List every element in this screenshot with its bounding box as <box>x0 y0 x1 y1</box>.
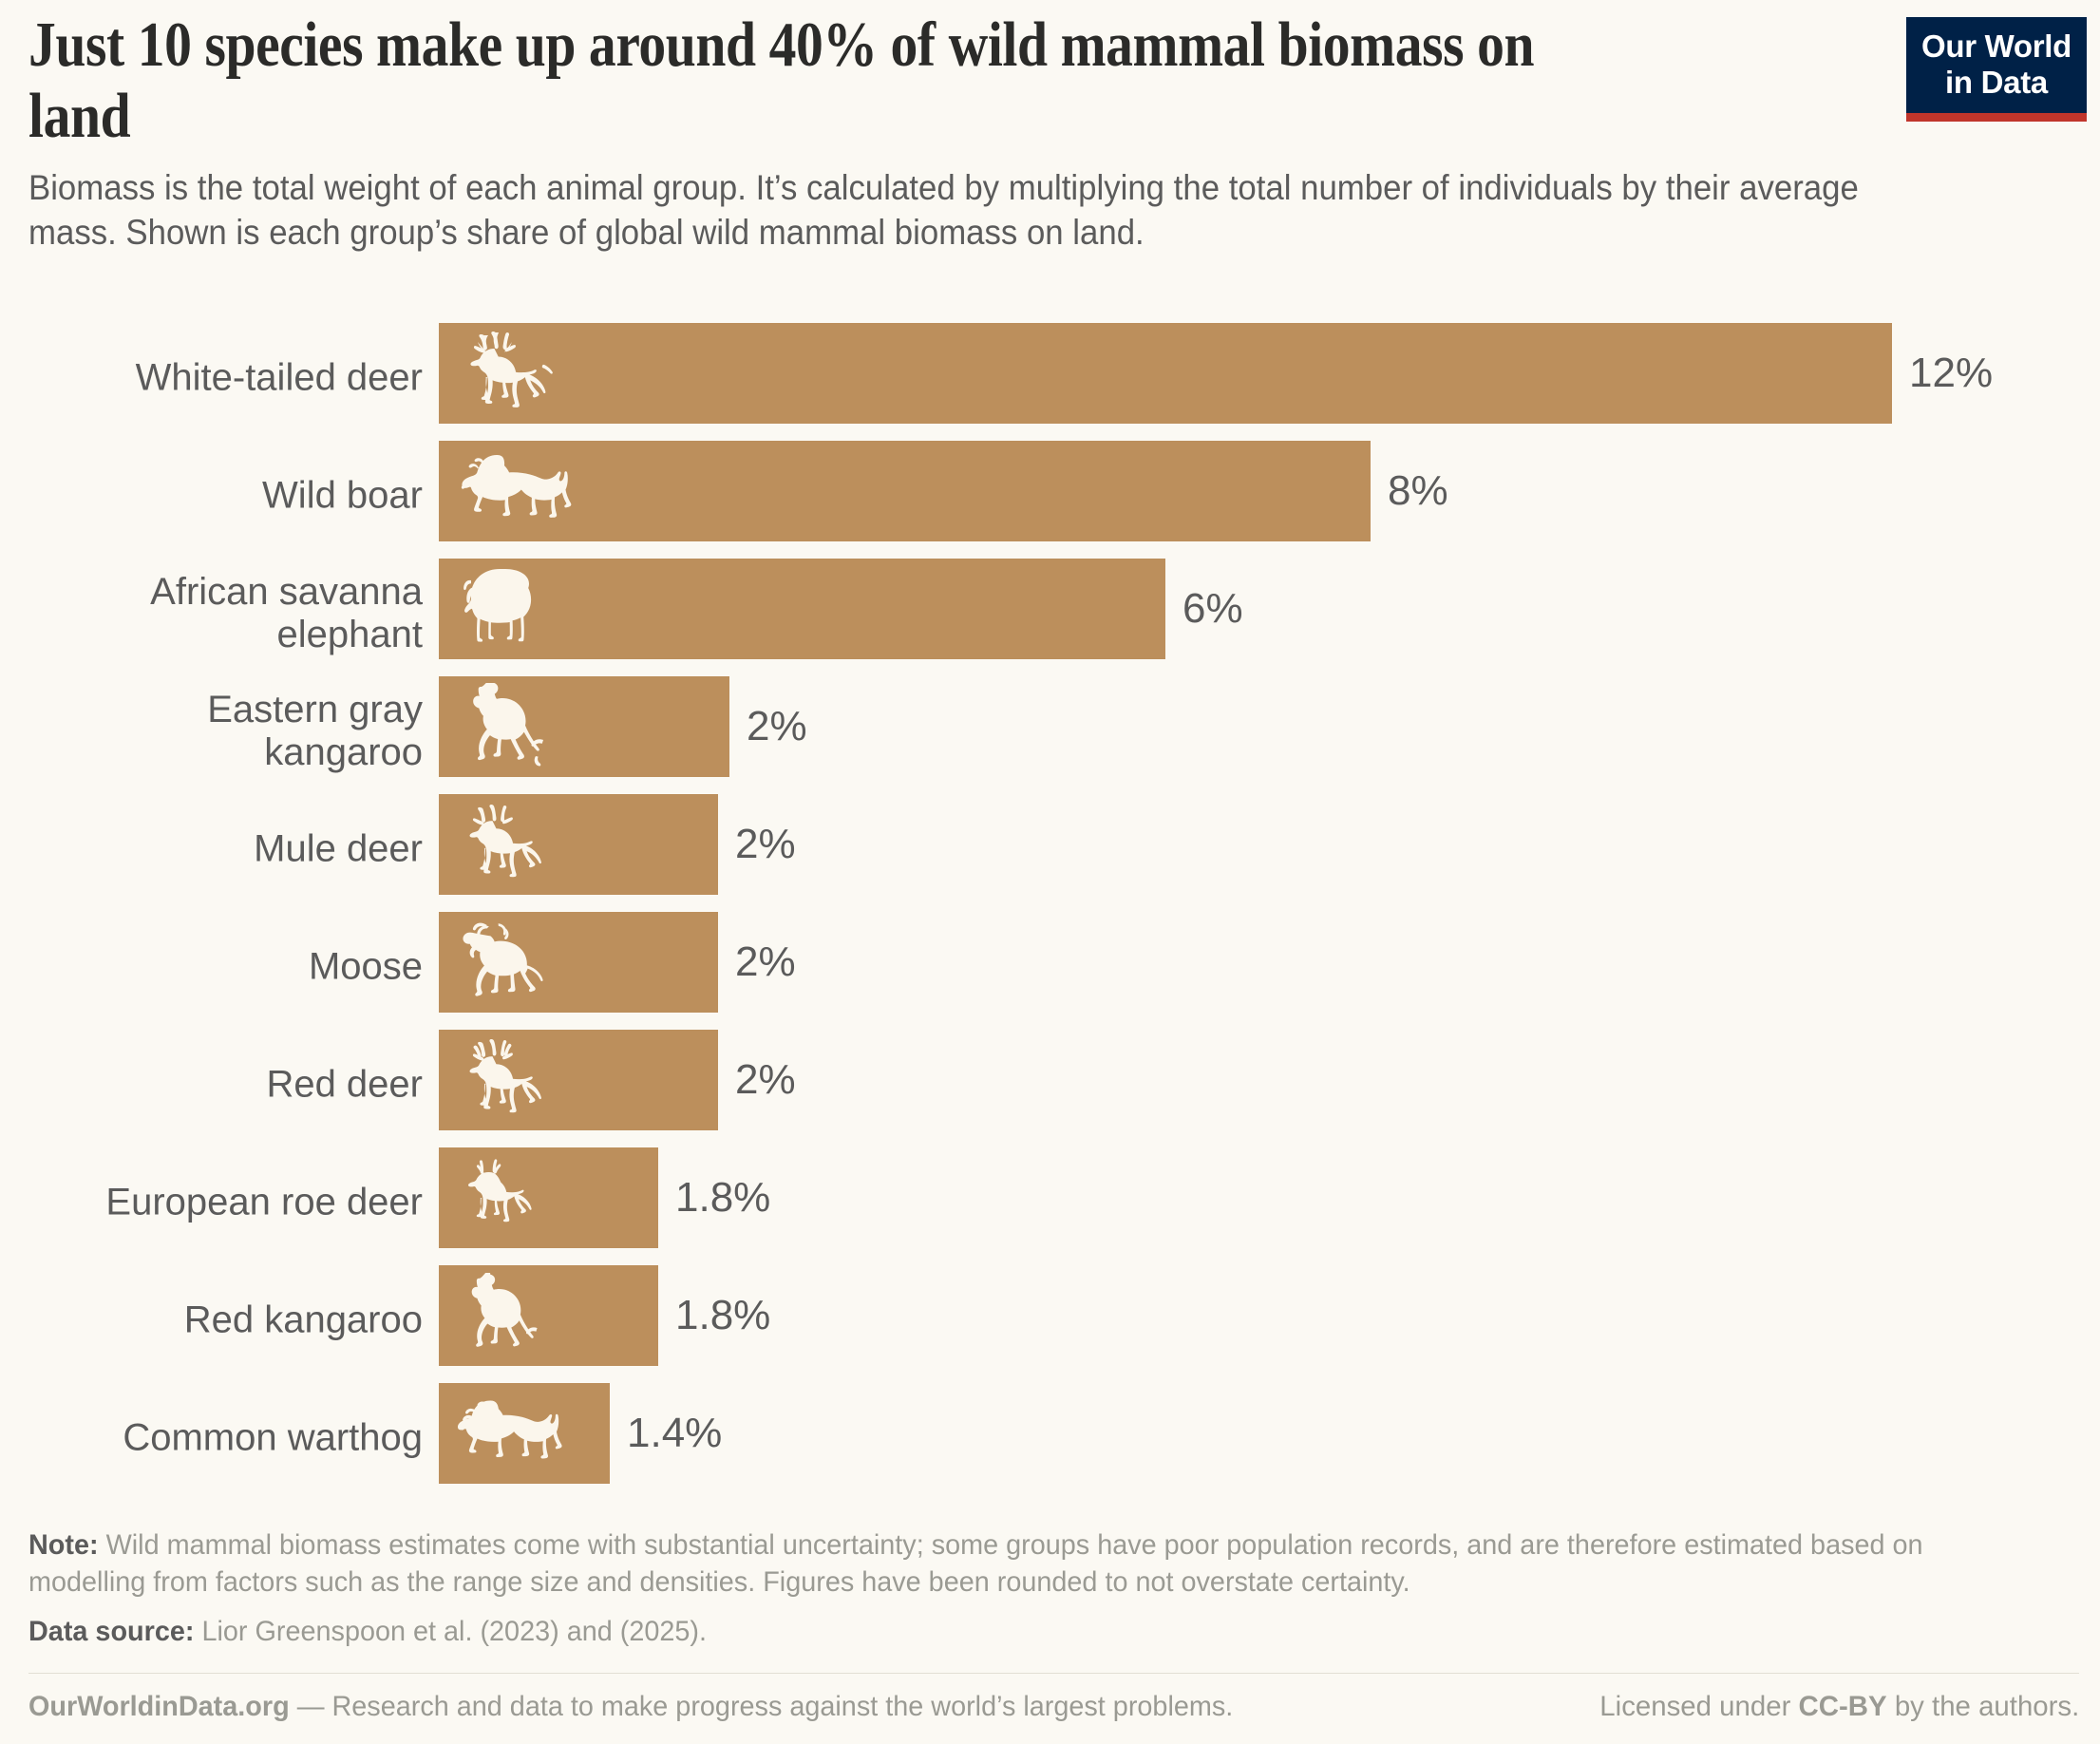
license-line: Licensed under CC-BY by the authors. <box>1599 1691 2079 1723</box>
bar-row[interactable]: Wild boar 8% <box>0 437 2100 555</box>
roe-deer-icon <box>439 1155 558 1241</box>
bar-row[interactable]: Common warthog 1.4% <box>0 1379 2100 1497</box>
bar-and-value: 2% <box>439 794 796 895</box>
data-source-label: Data source: <box>28 1616 194 1647</box>
bar-row-label: White-tailed deer <box>0 357 423 400</box>
red-kangaroo-icon <box>439 1273 558 1358</box>
bar-row[interactable]: Red kangaroo 1.8% <box>0 1261 2100 1379</box>
bar-and-value: 1.8% <box>439 1265 770 1366</box>
chart-footer: Note: Wild mammal biomass estimates come… <box>28 1526 2079 1723</box>
bar[interactable] <box>439 323 1892 424</box>
note-line: Note: Wild mammal biomass estimates come… <box>28 1526 1997 1601</box>
bar-value-label: 1.8% <box>675 1174 770 1222</box>
bar-row-label: Red kangaroo <box>0 1299 423 1342</box>
bar-value-label: 12% <box>1909 350 1993 397</box>
bar-value-label: 2% <box>735 1056 796 1104</box>
bar-value-label: 6% <box>1182 585 1243 633</box>
bar-row-label: Red deer <box>0 1064 423 1107</box>
bar-and-value: 2% <box>439 912 796 1013</box>
note-label: Note: <box>28 1529 99 1561</box>
bar-row[interactable]: Moose 2% <box>0 908 2100 1026</box>
bar-value-label: 1.4% <box>627 1410 722 1457</box>
owid-tagline: — Research and data to make progress aga… <box>297 1691 1234 1722</box>
data-source-line: Data source: Lior Greenspoon et al. (202… <box>28 1616 1997 1648</box>
bar-row[interactable]: Mule deer 2% <box>0 790 2100 908</box>
owid-logo-red-rule <box>1906 113 2087 122</box>
bar-value-label: 1.8% <box>675 1292 770 1339</box>
bar-value-label: 2% <box>747 703 807 750</box>
boar-icon <box>439 447 587 535</box>
bar-and-value: 1.8% <box>439 1147 770 1248</box>
bar-and-value: 2% <box>439 1030 796 1130</box>
bar-and-value: 6% <box>439 559 1243 659</box>
bar-row-label: Common warthog <box>0 1417 423 1460</box>
owid-link-line[interactable]: OurWorldinData.org — Research and data t… <box>28 1691 1233 1723</box>
owid-logo-line2: in Data <box>1912 65 2081 101</box>
owid-site-link[interactable]: OurWorldinData.org <box>28 1691 290 1722</box>
bar[interactable] <box>439 794 718 895</box>
bar-and-value: 1.4% <box>439 1383 722 1484</box>
bar[interactable] <box>439 559 1165 659</box>
bar-value-label: 2% <box>735 821 796 868</box>
bar-row-label: European roe deer <box>0 1182 423 1224</box>
owid-logo[interactable]: Our World in Data <box>1906 17 2087 122</box>
page-title: Just 10 species make up around 40% of wi… <box>28 9 1630 152</box>
bar[interactable] <box>439 912 718 1013</box>
bar-and-value: 2% <box>439 676 807 777</box>
license-prefix: Licensed under <box>1599 1691 1790 1722</box>
footer-bottom-bar: OurWorldinData.org — Research and data t… <box>28 1673 2079 1723</box>
elephant-icon <box>439 563 574 654</box>
bar[interactable] <box>439 1265 658 1366</box>
bar-and-value: 8% <box>439 441 1448 541</box>
red-deer-icon <box>439 1037 572 1123</box>
bar-row-label: Mule deer <box>0 828 423 871</box>
moose-icon <box>439 919 581 1006</box>
owid-logo-line1: Our World <box>1912 28 2081 65</box>
deer-icon <box>439 330 577 417</box>
license-link[interactable]: CC-BY <box>1798 1691 1886 1722</box>
license-suffix: by the authors. <box>1895 1691 2079 1722</box>
bar[interactable] <box>439 1147 658 1248</box>
mule-deer-icon <box>439 802 572 887</box>
owid-logo-box: Our World in Data <box>1906 17 2087 113</box>
bar-and-value: 12% <box>439 323 1993 424</box>
bar-value-label: 2% <box>735 938 796 986</box>
bar[interactable] <box>439 1030 718 1130</box>
bar[interactable] <box>439 1383 610 1484</box>
chart-header: Just 10 species make up around 40% of wi… <box>28 9 2072 256</box>
bar-row[interactable]: White-tailed deer 12% <box>0 319 2100 437</box>
bar-row[interactable]: African savanna elephant 6% <box>0 555 2100 673</box>
bar-row-label: Moose <box>0 946 423 989</box>
note-text: Wild mammal biomass estimates come with … <box>28 1529 1923 1598</box>
bar-value-label: 8% <box>1388 467 1448 515</box>
bar-row[interactable]: Eastern gray kangaroo 2% <box>0 673 2100 790</box>
bar-row-label: African savanna elephant <box>0 571 423 656</box>
bar-row-label: Eastern gray kangaroo <box>0 689 423 774</box>
bar-row-label: Wild boar <box>0 475 423 518</box>
bar[interactable] <box>439 441 1371 541</box>
bar-row[interactable]: European roe deer 1.8% <box>0 1144 2100 1261</box>
warthog-icon <box>439 1390 585 1477</box>
bar-chart: White-tailed deer 12%Wild boar 8%African… <box>0 319 2100 1497</box>
chart-subtitle: Biomass is the total weight of each anim… <box>28 165 1949 256</box>
kangaroo-icon <box>439 683 566 770</box>
data-source-text: Lior Greenspoon et al. (2023) and (2025)… <box>201 1616 707 1647</box>
bar-row[interactable]: Red deer 2% <box>0 1026 2100 1144</box>
bar[interactable] <box>439 676 729 777</box>
